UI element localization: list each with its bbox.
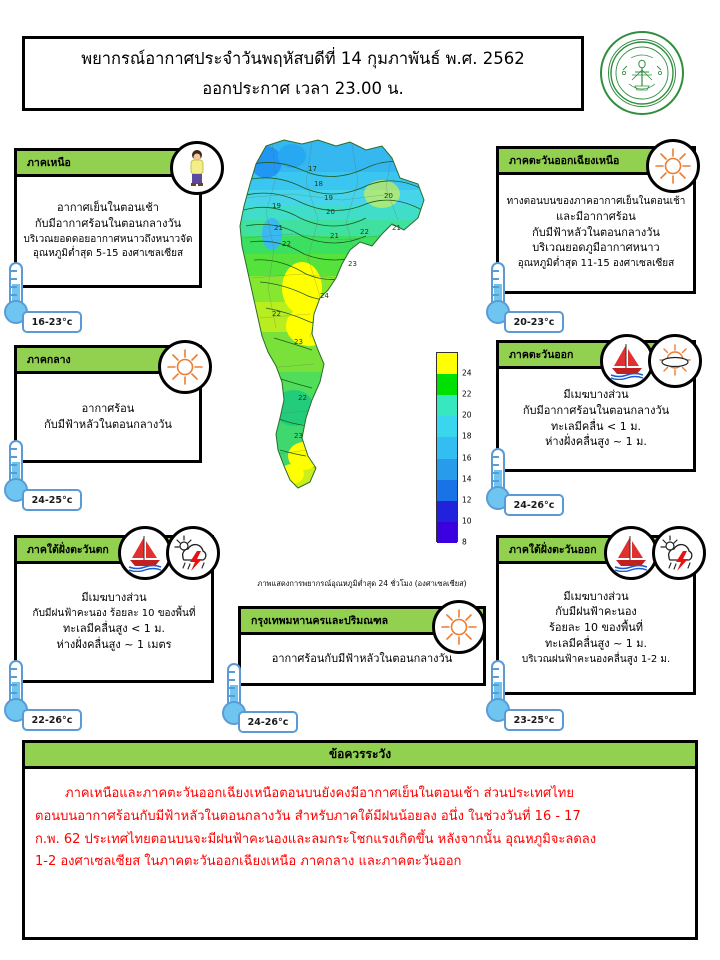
svg-text:19: 19 xyxy=(272,202,281,210)
colorbar-tick-label: 18 xyxy=(462,432,472,441)
warning-line: ภาคเหนือและภาคตะวันออกเฉียงเหนือตอนบนยัง… xyxy=(35,783,685,806)
colorbar-cell xyxy=(437,395,457,416)
colorbar-cell xyxy=(437,353,457,374)
region-line: อากาศร้อนกับมีฟ้าหลัวในตอนกลางวัน xyxy=(272,652,452,667)
region-line: ทะเลมีคลื่นสูง < 1 ม. xyxy=(63,622,165,637)
region-line: กับมีฟ้าหลัวในตอนกลางวัน xyxy=(44,418,172,433)
region-line: กับมีฝนฟ้าคะนอง xyxy=(555,605,637,620)
map-svg: 17 18 19 20 19 21 22 21 22 20 21 23 24 2… xyxy=(232,138,432,578)
colorbar-cell xyxy=(437,501,457,522)
colorbar-tick-label: 16 xyxy=(462,453,472,462)
region-line: ทะเลมีคลื่น < 1 ม. xyxy=(551,420,641,435)
region-line: บริเวณยอดดอยอากาศหนาวถึงหนาวจัด xyxy=(24,233,193,247)
warning-box: ข้อควรระวัง ภาคเหนือและภาคตะวันออกเฉียงเ… xyxy=(22,740,698,940)
svg-text:22: 22 xyxy=(298,394,307,402)
thailand-min-temperature-map: 17 18 19 20 19 21 22 21 22 20 21 23 24 2… xyxy=(232,138,432,578)
colorbar-tick-label: 22 xyxy=(462,390,472,399)
svg-text:23: 23 xyxy=(294,432,303,440)
region-line: บริเวณยอดภูมีอากาศหนาว xyxy=(532,241,659,256)
colorbar-cell xyxy=(437,374,457,395)
colorbar-tick-label: 20 xyxy=(462,411,472,420)
svg-text:22: 22 xyxy=(360,228,369,236)
region-line: กับมีอากาศร้อนในตอนกลางวัน xyxy=(35,217,181,232)
temp-badge-central: 24-25°c xyxy=(22,489,82,511)
colorbar-tick-label: 12 xyxy=(462,495,472,504)
sailboat-icon xyxy=(604,526,658,580)
region-line: อากาศเย็นในตอนเช้า xyxy=(57,201,159,216)
warning-line: ก.พ. 62 ประเทศไทยตอนบนจะมีฝนฟ้าคะนองและล… xyxy=(35,829,685,852)
temp-badge-bangkok: 24-26°c xyxy=(238,711,298,733)
svg-text:21: 21 xyxy=(330,232,339,240)
colorbar-cell xyxy=(437,416,457,437)
colorbar-cell xyxy=(437,480,457,501)
header-line-1: พยากรณ์อากาศประจำวันพฤหัสบดีที่ 14 กุมภา… xyxy=(81,46,524,72)
region-body-south-west: มีเมฆบางส่วน กับมีฝนฟ้าคะนอง ร้อยละ 10 ข… xyxy=(17,564,211,680)
warning-line: 1-2 องศาเซลเซียส ในภาคตะวันออกเฉียงเหนือ… xyxy=(35,851,685,874)
sun-icon xyxy=(646,139,700,193)
colorbar-tick-label: 14 xyxy=(462,474,472,483)
colorbar-tick-label: 8 xyxy=(462,538,467,547)
region-line: บริเวณฝนฟ้าคะนองคลื่นสูง 1-2 ม. xyxy=(522,653,670,667)
region-line: อากาศร้อน xyxy=(82,402,135,417)
region-line: มีเมฆบางส่วน xyxy=(563,590,628,605)
header-line-2: ออกประกาศ เวลา 23.00 น. xyxy=(202,76,404,102)
svg-text:23: 23 xyxy=(348,260,357,268)
svg-text:23: 23 xyxy=(294,338,303,346)
colorbar xyxy=(436,352,458,542)
seal-artwork-icon xyxy=(609,40,675,106)
colorbar-tick-label: 10 xyxy=(462,516,472,525)
sun-icon xyxy=(158,340,212,394)
temp-badge-northeast: 20-23°c xyxy=(504,311,564,333)
warning-body: ภาคเหนือและภาคตะวันออกเฉียงเหนือตอนบนยัง… xyxy=(25,769,695,874)
warning-title: ข้อควรระวัง xyxy=(25,743,695,769)
colorbar-tick-label: 24 xyxy=(462,369,472,378)
temp-badge-south-east: 23-25°c xyxy=(504,709,564,731)
region-line: ทางตอนบนของภาคอากาศเย็นในตอนเช้า xyxy=(507,195,686,209)
region-line: ร้อยละ 10 ของพื้นที่ xyxy=(549,621,643,636)
svg-text:17: 17 xyxy=(308,165,317,173)
svg-text:21: 21 xyxy=(392,224,401,232)
region-body-northeast: ทางตอนบนของภาคอากาศเย็นในตอนเช้า และมีอา… xyxy=(499,175,693,291)
header-title-box: พยากรณ์อากาศประจำวันพฤหัสบดีที่ 14 กุมภา… xyxy=(22,36,584,111)
region-line: กับมีฟ้าหลัวในตอนกลางวัน xyxy=(532,226,660,241)
temperature-colorbar-legend: 24222018161412108 xyxy=(436,352,484,552)
temp-badge-south-west: 22-26°c xyxy=(22,709,82,731)
region-line: อุณหภูมิต่ำสุด 5-15 องศาเซลเซียส xyxy=(33,247,183,261)
sun-icon xyxy=(432,600,486,654)
sailboat-glyph xyxy=(127,534,163,572)
region-line: และมีอากาศร้อน xyxy=(556,210,636,225)
region-line: ห่างฝั่งคลื่นสูง ~ 1 ม. xyxy=(545,435,647,450)
region-line: อุณหภูมิต่ำสุด 11-15 องศาเซลเซียส xyxy=(518,257,675,271)
sun-haze-glyph xyxy=(655,341,695,381)
warning-line: ตอนบนอากาศร้อนกับมีฟ้าหลัวในตอนกลางวัน ส… xyxy=(35,806,685,829)
svg-text:22: 22 xyxy=(272,310,281,318)
sun-haze-icon xyxy=(648,334,702,388)
thunderstorm-glyph xyxy=(173,533,213,573)
sailboat-glyph xyxy=(609,342,645,380)
temp-badge-east: 24-26°c xyxy=(504,494,564,516)
svg-text:21: 21 xyxy=(274,224,283,232)
sailboat-glyph xyxy=(613,534,649,572)
forecast-poster: พยากรณ์อากาศประจำวันพฤหัสบดีที่ 14 กุมภา… xyxy=(0,0,720,960)
sun-glyph xyxy=(439,607,479,647)
svg-text:20: 20 xyxy=(384,192,393,200)
svg-text:18: 18 xyxy=(314,180,323,188)
thunderstorm-icon xyxy=(166,526,220,580)
sailboat-icon xyxy=(118,526,172,580)
svg-text:24: 24 xyxy=(320,292,329,300)
colorbar-cell xyxy=(437,459,457,480)
sun-glyph xyxy=(165,347,205,387)
region-body-south-east: มีเมฆบางส่วน กับมีฝนฟ้าคะนอง ร้อยละ 10 ข… xyxy=(499,564,693,692)
svg-text:22: 22 xyxy=(282,240,291,248)
svg-text:19: 19 xyxy=(324,194,333,202)
region-line: ทะเลมีคลื่นสูง ~ 1 ม. xyxy=(545,637,647,652)
colorbar-cell xyxy=(437,437,457,458)
sailboat-icon xyxy=(600,334,654,388)
region-line: มีเมฆบางส่วน xyxy=(563,388,628,403)
temp-badge-north: 16-23°c xyxy=(22,311,82,333)
seal-inner-ring xyxy=(608,39,676,107)
sun-glyph xyxy=(653,146,693,186)
region-line: ห่างฝั่งคลื่นสูง ~ 1 เมตร xyxy=(56,638,171,653)
thunderstorm-icon xyxy=(652,526,706,580)
region-line: มีเมฆบางส่วน xyxy=(81,591,146,606)
svg-text:20: 20 xyxy=(326,208,335,216)
colorbar-cell xyxy=(437,522,457,543)
map-caption: ภาพแสดงการพยากรณ์อุณหภูมิต่ำสุด 24 ชั่วโ… xyxy=(228,578,496,590)
thunderstorm-glyph xyxy=(659,533,699,573)
person-cold-icon xyxy=(170,141,224,195)
region-body-north: อากาศเย็นในตอนเช้า กับมีอากาศร้อนในตอนกล… xyxy=(17,177,199,285)
region-line: กับมีอากาศร้อนในตอนกลางวัน xyxy=(523,404,669,419)
thai-meteorological-department-seal-icon xyxy=(600,31,684,115)
person-cold-glyph xyxy=(182,148,212,188)
region-line: กับมีฝนฟ้าคะนอง ร้อยละ 10 ของพื้นที่ xyxy=(33,607,196,621)
